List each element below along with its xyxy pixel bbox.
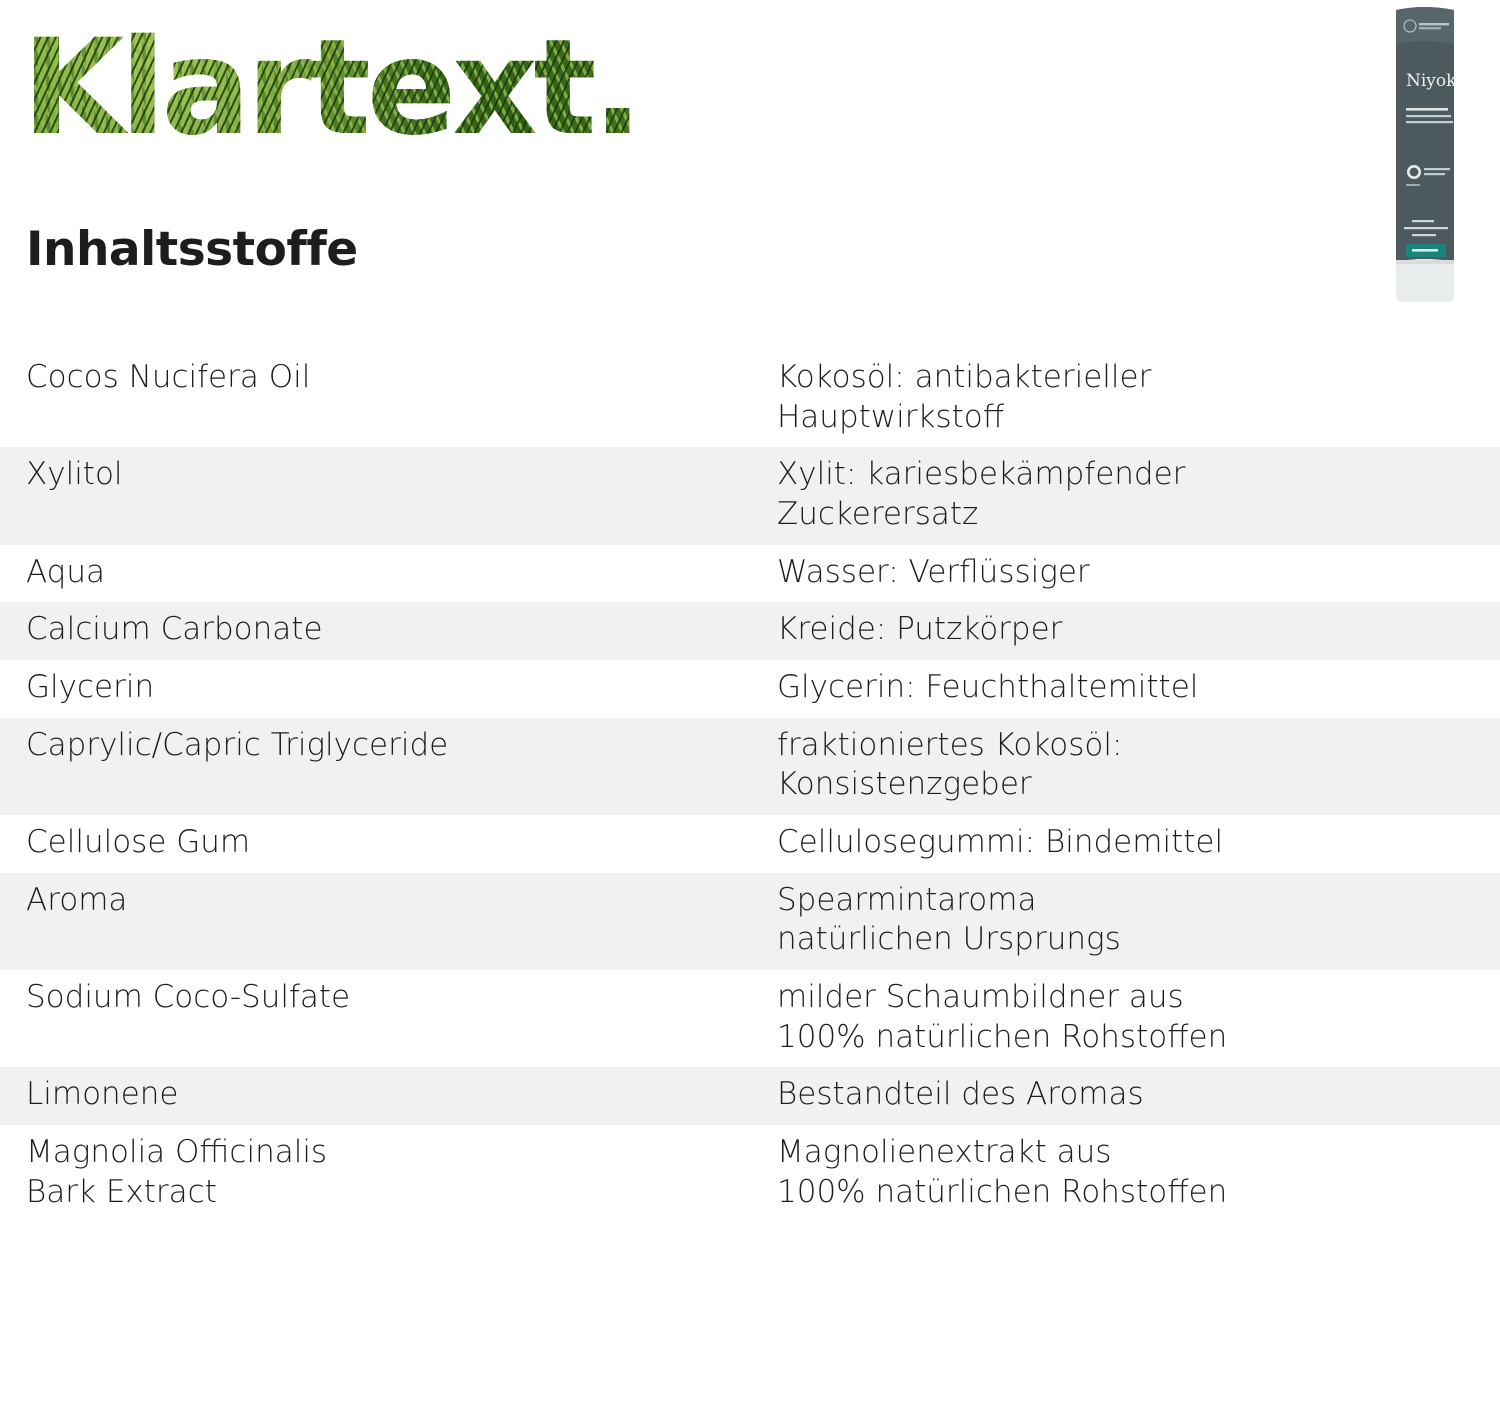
description-line: Wasser: Verflüssiger bbox=[777, 553, 1500, 593]
ingredient-description: Spearmintaroma natürlichen Ursprungs bbox=[761, 873, 1500, 970]
ingredient-inci-name: Glycerin bbox=[0, 660, 761, 718]
description-line: fraktioniertes Kokosöl: bbox=[777, 726, 1500, 766]
table-row: Sodium Coco-Sulfate milder Schaumbildner… bbox=[0, 970, 1500, 1067]
ingredient-inci-name: Xylitol bbox=[0, 447, 761, 544]
ingredient-description: milder Schaumbildner aus 100% natürliche… bbox=[761, 970, 1500, 1067]
ingredient-description: Kokosöl: antibakterieller Hauptwirkstoff bbox=[761, 350, 1500, 447]
ingredient-description: Xylit: kariesbekämpfender Zuckerersatz bbox=[761, 447, 1500, 544]
ingredients-table: Cocos Nucifera Oil Kokosöl: antibakterie… bbox=[0, 350, 1500, 1222]
brand-logo-text: Klartext. bbox=[22, 8, 742, 168]
ingredient-inci-name: Sodium Coco-Sulfate bbox=[0, 970, 761, 1067]
ingredient-description: Magnolienextrakt aus 100% natürlichen Ro… bbox=[761, 1125, 1500, 1222]
table-row: Aroma Spearmintaroma natürlichen Ursprun… bbox=[0, 873, 1500, 970]
ingredient-inci-name: Aqua bbox=[0, 545, 761, 603]
table-row: Limonene Bestandteil des Aromas bbox=[0, 1067, 1500, 1125]
table-row: Cellulose Gum Cellulosegummi: Bindemitte… bbox=[0, 815, 1500, 873]
inci-line: Magnolia Officinalis bbox=[26, 1133, 761, 1173]
toothpaste-tube-image: Niyok bbox=[1392, 4, 1458, 306]
brand-logo: Klartext. bbox=[22, 8, 742, 168]
table-row: Cocos Nucifera Oil Kokosöl: antibakterie… bbox=[0, 350, 1500, 447]
ingredient-description: Glycerin: Feuchthaltemittel bbox=[761, 660, 1500, 718]
table-row: Aqua Wasser: Verflüssiger bbox=[0, 545, 1500, 603]
ingredient-description: fraktioniertes Kokosöl: Konsistenzgeber bbox=[761, 718, 1500, 815]
ingredient-description: Bestandteil des Aromas bbox=[761, 1067, 1500, 1125]
ingredient-inci-name: Limonene bbox=[0, 1067, 761, 1125]
table-row: Calcium Carbonate Kreide: Putzkörper bbox=[0, 602, 1500, 660]
ingredient-inci-name: Magnolia Officinalis Bark Extract bbox=[0, 1125, 761, 1222]
description-line: natürlichen Ursprungs bbox=[777, 920, 1500, 960]
table-row: Xylitol Xylit: kariesbekämpfender Zucker… bbox=[0, 447, 1500, 544]
ingredient-inci-name: Cocos Nucifera Oil bbox=[0, 350, 761, 447]
ingredient-description: Wasser: Verflüssiger bbox=[761, 545, 1500, 603]
description-line: 100% natürlichen Rohstoffen bbox=[777, 1173, 1500, 1213]
ingredient-description: Kreide: Putzkörper bbox=[761, 602, 1500, 660]
description-line: Magnolienextrakt aus bbox=[777, 1133, 1500, 1173]
table-row: Glycerin Glycerin: Feuchthaltemittel bbox=[0, 660, 1500, 718]
ingredient-inci-name: Aroma bbox=[0, 873, 761, 970]
inci-line: Bark Extract bbox=[26, 1173, 761, 1213]
table-row: Magnolia Officinalis Bark Extract Magnol… bbox=[0, 1125, 1500, 1222]
description-line: 100% natürlichen Rohstoffen bbox=[777, 1018, 1500, 1058]
page-title: Inhaltsstoffe bbox=[26, 222, 358, 277]
ingredient-description: Cellulosegummi: Bindemittel bbox=[761, 815, 1500, 873]
description-line: Cellulosegummi: Bindemittel bbox=[777, 823, 1500, 863]
description-line: Zuckerersatz bbox=[777, 495, 1500, 535]
description-line: Xylit: kariesbekämpfender bbox=[777, 455, 1500, 495]
ingredient-inci-name: Cellulose Gum bbox=[0, 815, 761, 873]
table-row: Caprylic/Capric Triglyceride fraktionier… bbox=[0, 718, 1500, 815]
description-line: Kokosöl: antibakterieller bbox=[777, 358, 1500, 398]
description-line: Spearmintaroma bbox=[777, 881, 1500, 921]
description-line: Hauptwirkstoff bbox=[777, 398, 1500, 438]
ingredient-inci-name: Calcium Carbonate bbox=[0, 602, 761, 660]
ingredient-inci-name: Caprylic/Capric Triglyceride bbox=[0, 718, 761, 815]
description-line: Kreide: Putzkörper bbox=[777, 610, 1500, 650]
svg-text:Niyok: Niyok bbox=[1406, 71, 1457, 91]
description-line: Bestandteil des Aromas bbox=[777, 1075, 1500, 1115]
description-line: milder Schaumbildner aus bbox=[777, 978, 1500, 1018]
description-line: Glycerin: Feuchthaltemittel bbox=[777, 668, 1500, 708]
description-line: Konsistenzgeber bbox=[777, 765, 1500, 805]
